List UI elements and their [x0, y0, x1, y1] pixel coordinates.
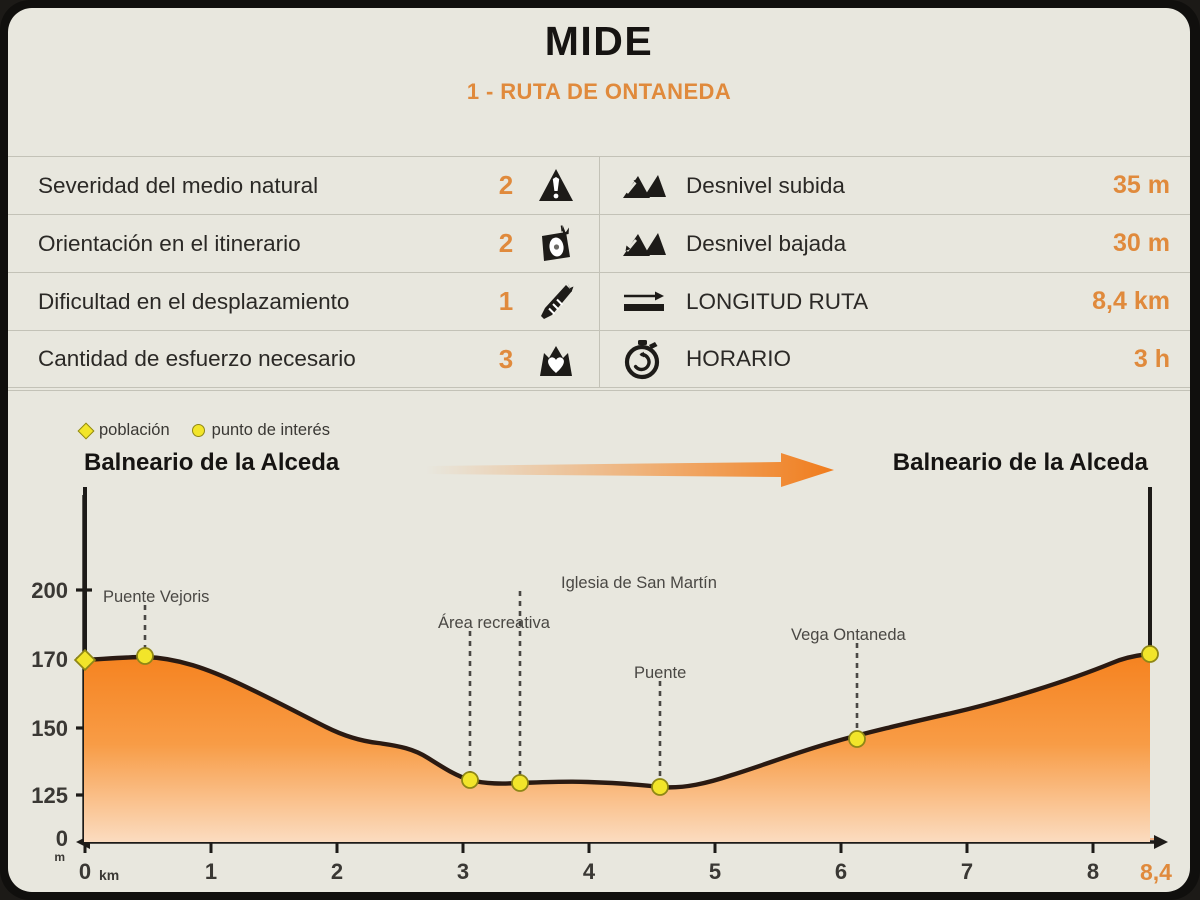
- x-tick-label: 2: [331, 859, 343, 884]
- criterion-score: 1: [485, 286, 527, 317]
- stat-label: LONGITUD RUTA: [672, 289, 1092, 315]
- mide-ratings-table: Severidad del medio natural 2 Orientació…: [8, 156, 1190, 388]
- marker-area-recreativa: [462, 772, 478, 788]
- card-header: MIDE 1 - RUTA DE ONTANEDA: [8, 8, 1190, 105]
- marker-poblacion-end: [1142, 646, 1158, 662]
- x-axis-ticks: 0 km 1 2 3 4 5 6 7 8 8,4: [79, 842, 1172, 885]
- marker-vega-ontaneda: [849, 731, 865, 747]
- waypoint-labels: Puente Vejoris Área recreativa Iglesia d…: [103, 574, 907, 682]
- x-tick-label-end: 8,4: [1140, 859, 1172, 885]
- criteria-column: Severidad del medio natural 2 Orientació…: [8, 156, 599, 388]
- page-title: MIDE: [8, 20, 1190, 63]
- route-subtitle: 1 - RUTA DE ONTANEDA: [8, 79, 1190, 105]
- ascent-icon: [614, 161, 672, 211]
- descent-icon: [614, 219, 672, 269]
- table-row: Orientación en el itinerario 2: [8, 214, 599, 272]
- criterion-label: Cantidad de esfuerzo necesario: [22, 346, 485, 372]
- elevation-profile-chart: población punto de interés Balneario de …: [8, 390, 1190, 892]
- stat-label: Desnivel bajada: [672, 231, 1113, 257]
- length-icon: [614, 277, 672, 327]
- x-tick-label: 0: [79, 859, 91, 884]
- stat-value: 30 m: [1113, 229, 1176, 258]
- boot-icon: [527, 277, 585, 327]
- waypoint-label: Puente Vejoris: [103, 588, 209, 606]
- stat-value: 3 h: [1134, 345, 1176, 374]
- criterion-score: 2: [485, 228, 527, 259]
- stopwatch-icon: [614, 334, 672, 384]
- y-tick-label: 125: [31, 783, 68, 808]
- y-tick-label: 170: [31, 647, 68, 672]
- table-row: LONGITUD RUTA 8,4 km: [600, 272, 1190, 330]
- waypoint-label: Puente: [634, 664, 686, 682]
- x-tick-label: 7: [961, 859, 973, 884]
- mide-card-panel: MIDE 1 - RUTA DE ONTANEDA Severidad del …: [8, 8, 1190, 892]
- marker-puente-vejoris: [137, 648, 153, 664]
- x-tick-label: 3: [457, 859, 469, 884]
- x-tick-label: 1: [205, 859, 217, 884]
- criterion-label: Orientación en el itinerario: [22, 231, 485, 257]
- y-tick-label: 200: [31, 578, 68, 603]
- table-row: Dificultad en el desplazamiento 1: [8, 272, 599, 330]
- heart-effort-icon: [527, 334, 585, 384]
- y-tick-label: 0: [56, 826, 68, 851]
- warning-triangle-icon: [527, 161, 585, 211]
- stat-label: HORARIO: [672, 346, 1134, 372]
- criterion-score: 2: [485, 170, 527, 201]
- x-tick-label: 8: [1087, 859, 1099, 884]
- x-axis-unit: km: [99, 867, 119, 883]
- table-row: HORARIO 3 h: [600, 330, 1190, 388]
- table-row: Desnivel bajada 30 m: [600, 214, 1190, 272]
- marker-puente: [652, 779, 668, 795]
- compass-map-icon: [527, 219, 585, 269]
- table-row: Cantidad de esfuerzo necesario 3: [8, 330, 599, 388]
- table-row: Severidad del medio natural 2: [8, 156, 599, 214]
- x-tick-label: 6: [835, 859, 847, 884]
- x-tick-label: 5: [709, 859, 721, 884]
- x-tick-label: 4: [583, 859, 596, 884]
- waypoint-label: Iglesia de San Martín: [561, 574, 717, 592]
- y-tick-label: 150: [31, 716, 68, 741]
- profile-plot: 200 170 150 125 0 m: [8, 391, 1190, 892]
- criterion-label: Dificultad en el desplazamiento: [22, 289, 485, 315]
- table-row: Desnivel subida 35 m: [600, 156, 1190, 214]
- elevation-area: [84, 654, 1150, 842]
- stat-label: Desnivel subida: [672, 173, 1113, 199]
- criterion-label: Severidad del medio natural: [22, 173, 485, 199]
- endpoint-stems: [85, 487, 1150, 657]
- stat-value: 8,4 km: [1092, 287, 1176, 316]
- stats-column: Desnivel subida 35 m Desnivel bajada 30 …: [599, 156, 1190, 388]
- y-axis-unit: m: [54, 850, 65, 864]
- outer-frame: MIDE 1 - RUTA DE ONTANEDA Severidad del …: [0, 0, 1200, 900]
- waypoint-label: Vega Ontaneda: [791, 626, 907, 644]
- waypoint-label: Área recreativa: [438, 613, 551, 632]
- stat-value: 35 m: [1113, 171, 1176, 200]
- criterion-score: 3: [485, 344, 527, 375]
- marker-iglesia-san-martin: [512, 775, 528, 791]
